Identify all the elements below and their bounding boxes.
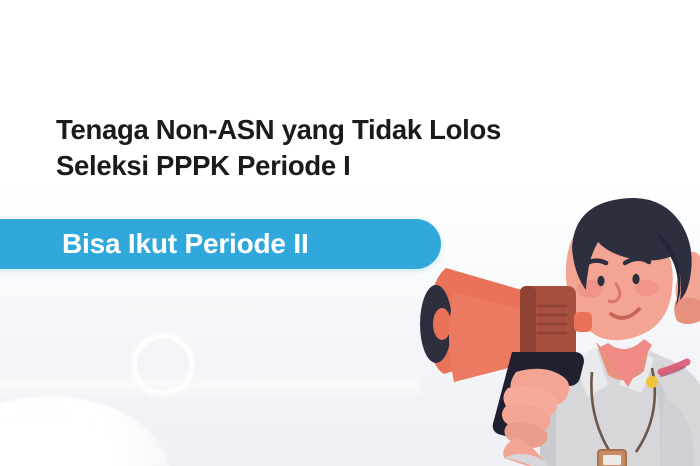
decorative-blob-bottom-left-inner: [0, 424, 120, 466]
highlight-banner-text: Bisa Ikut Periode II: [62, 228, 309, 260]
decorative-ring-icon-lower: [132, 334, 194, 396]
decorative-blob-bottom-left: [0, 396, 170, 466]
decorative-soft-band: [0, 368, 420, 398]
illustration-man-with-megaphone: [420, 166, 700, 466]
poster-canvas: Tenaga Non-ASN yang Tidak Lolos Seleksi …: [0, 0, 700, 466]
highlight-banner: Bisa Ikut Periode II: [0, 219, 441, 269]
headline-line-1: Tenaga Non-ASN yang Tidak Lolos: [56, 112, 556, 148]
